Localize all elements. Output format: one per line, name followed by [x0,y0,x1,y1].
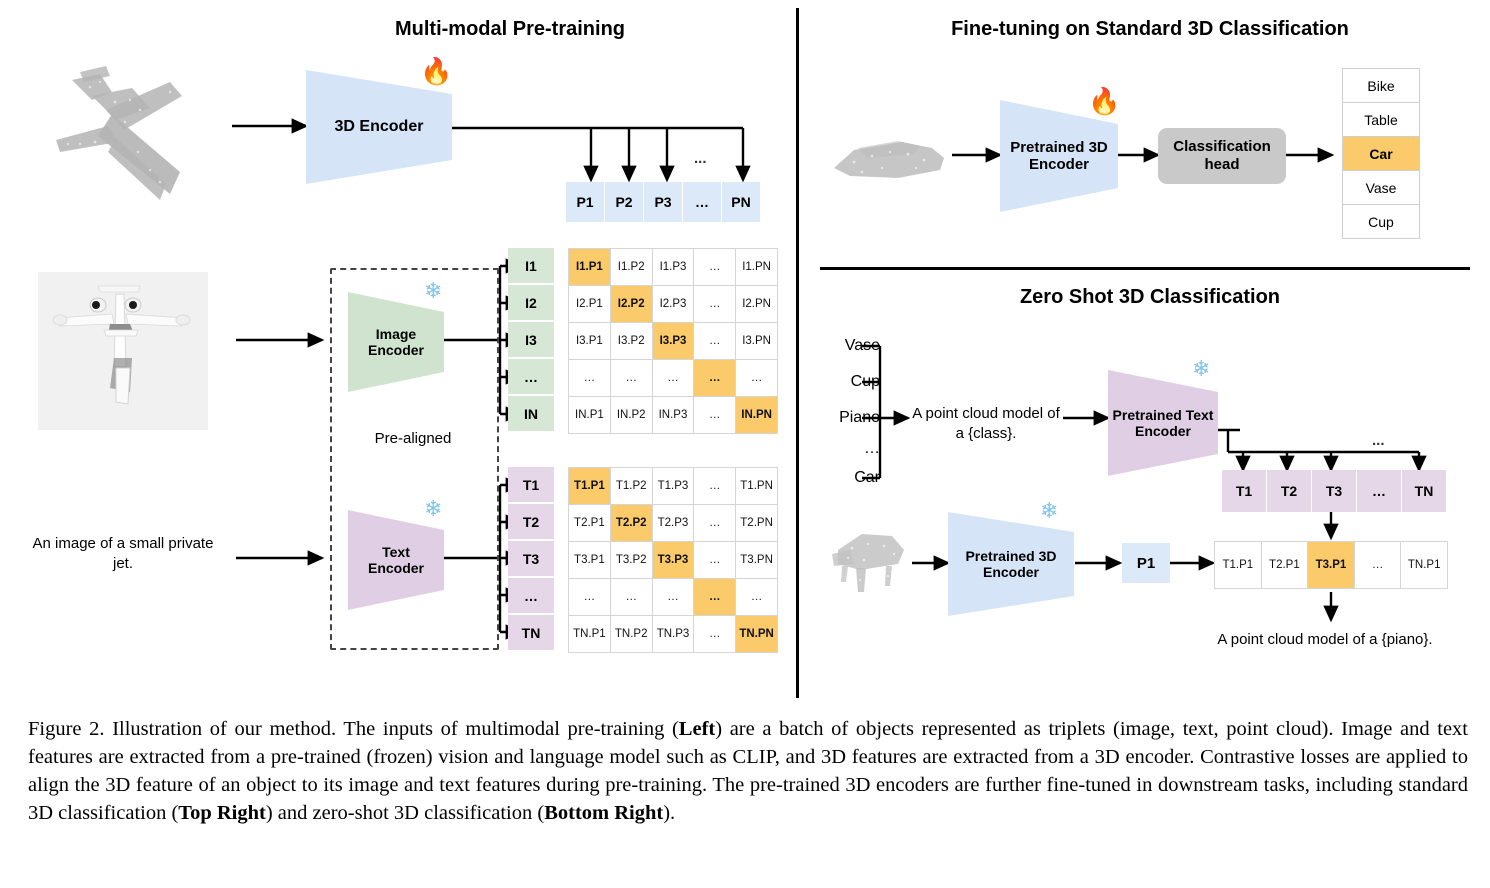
matrix-cell-highlighted: T3.P3 [653,542,694,578]
matrix-cell: IN.P1 [569,397,610,433]
matrix-cell: I3.P1 [569,323,610,359]
token-cell: T2 [508,504,554,541]
p-row-ellipsis: ... [694,150,707,167]
pretrained-text-encoder-label: Pretrained Text Encoder [1113,407,1214,439]
class-list-item[interactable]: Car [1343,137,1419,171]
matrix-cell: … [694,286,735,322]
pretrained-3d-encoder-label: Pretrained 3D Encoder [1010,139,1108,174]
class-list-item[interactable]: Table [1343,103,1419,137]
matrix-cell-highlighted: … [694,360,735,396]
matrix-cell-highlighted: I3.P3 [653,323,694,359]
matrix-cell: … [694,542,735,578]
token-chip: T3 [1312,470,1357,512]
matrix-cell: … [694,616,735,652]
caption-bold2: Top Right [178,802,266,824]
matrix-cell-highlighted: IN.PN [736,397,777,433]
image-encoder-label: Image Encoder [368,326,424,358]
figure-canvas: Multi-modal Pre-training Fine-tuning on … [0,0,1490,705]
matrix-cell-highlighted: T2.P2 [611,505,652,541]
token-cell: I3 [508,322,554,359]
matrix-cell-highlighted: T1.P1 [569,468,610,504]
bottomright-panel-title: Zero Shot 3D Classification [900,286,1400,309]
matrix-cell-highlighted: … [694,579,735,615]
image-similarity-matrix: I1.P1I1.P2I1.P3…I1.PNI2.P1I2.P2I2.P3…I2.… [568,248,778,434]
candidate-label: Car [822,469,880,487]
matrix-cell: … [694,397,735,433]
matrix-cell-highlighted: TN.PN [736,616,777,652]
pretrained-3d-encoder-block[interactable]: Pretrained 3D Encoder [1000,98,1118,214]
zeroshot-3d-encoder-block[interactable]: Pretrained 3D Encoder [948,510,1074,618]
score-cell: T2.P1 [1262,542,1308,588]
p-token-row: P1P2P3…PN [566,182,760,222]
text-encoder-label: Text Encoder [368,544,424,576]
zeroshot-result: A point cloud model of a {piano}. [1160,630,1490,650]
figure-caption: Figure 2. Illustration of our method. Th… [28,716,1468,828]
image-encoder-block[interactable]: Image Encoder [348,290,444,394]
token-cell: T1 [508,467,554,504]
matrix-cell: TN.P3 [653,616,694,652]
matrix-cell: I1.PN [736,249,777,285]
airplane-point-cloud [20,52,235,217]
class-list-item[interactable]: Bike [1343,69,1419,103]
token-chip: TN [1402,470,1446,512]
matrix-cell: I1.P2 [611,249,652,285]
token-cell: I2 [508,285,554,322]
caption-part1: Figure 2. Illustration of our method. Th… [28,718,679,740]
class-list-item[interactable]: Cup [1343,205,1419,238]
zeroshot-p1-chip: P1 [1122,543,1170,583]
matrix-cell: … [611,360,652,396]
pretrained-text-encoder-block[interactable]: Pretrained Text Encoder [1108,368,1218,478]
prompt-template: A point cloud model of a {class}. [906,404,1066,443]
threed-encoder-label: 3D Encoder [335,118,424,136]
token-chip: P2 [605,182,644,222]
matrix-cell: TN.P2 [611,616,652,652]
matrix-cell-highlighted: I2.P2 [611,286,652,322]
topright-panel-title: Fine-tuning on Standard 3D Classificatio… [880,18,1420,41]
token-chip: T1 [1222,470,1267,512]
caption-bold1: Left [679,718,715,740]
candidate-label: Cup [822,373,880,391]
class-list[interactable]: BikeTableCarVaseCup [1342,68,1420,239]
score-cell: TN.P1 [1401,542,1447,588]
zeroshot-3d-encoder-label: Pretrained 3D Encoder [965,548,1056,580]
text-encoder-line2: Encoder [368,560,424,576]
airplane-rendered-image [38,272,208,430]
i-token-stack: I1I2I3…IN [508,248,554,431]
caption-part3: ) and zero-shot 3D classification ( [266,802,544,824]
token-cell: … [508,359,554,396]
matrix-cell: … [694,468,735,504]
token-cell: I1 [508,248,554,285]
matrix-cell: T2.P1 [569,505,610,541]
matrix-cell: T1.PN [736,468,777,504]
text-input-caption: An image of a small private jet. [32,534,214,573]
score-cell: … [1355,542,1401,588]
matrix-cell: … [653,579,694,615]
text-similarity-matrix: T1.P1T1.P2T1.P3…T1.PNT2.P1T2.P2T2.P3…T2.… [568,467,778,653]
piano-point-cloud [828,520,914,602]
score-cell-highlighted: T3.P1 [1308,542,1354,588]
zeroshot-t-row-ellipsis: ... [1372,432,1385,449]
text-encoder-line2: Encoder [1135,423,1191,439]
class-list-item[interactable]: Vase [1343,171,1419,205]
zeroshot-score-row: T1.P1T2.P1T3.P1…TN.P1 [1214,541,1448,589]
matrix-cell: IN.P3 [653,397,694,433]
matrix-cell: T1.P3 [653,468,694,504]
matrix-cell: I2.P3 [653,286,694,322]
text-encoder-line1: Text [382,544,410,560]
matrix-cell: … [736,360,777,396]
token-cell: IN [508,396,554,431]
encoder-line1: Pretrained 3D [965,548,1056,564]
t-token-stack: T1T2T3…TN [508,467,554,650]
prompt-line1: A point cloud model of [912,405,1060,422]
score-cell: T1.P1 [1215,542,1261,588]
matrix-cell-highlighted: I1.P1 [569,249,610,285]
encoder-line2: Encoder [1029,156,1089,173]
threed-encoder-block[interactable]: 3D Encoder [306,68,452,186]
matrix-cell: T3.PN [736,542,777,578]
token-chip: P3 [644,182,683,222]
image-encoder-line1: Image [376,326,416,342]
matrix-cell: T3.P1 [569,542,610,578]
token-cell: … [508,578,554,615]
matrix-cell: I3.P2 [611,323,652,359]
car-point-cloud [828,128,952,188]
caption-bold3: Bottom Right [544,802,663,824]
token-chip: T2 [1267,470,1312,512]
matrix-cell: … [569,360,610,396]
matrix-cell: … [736,579,777,615]
token-chip: … [683,182,722,222]
matrix-cell: T3.P2 [611,542,652,578]
head-line2: head [1204,156,1239,173]
token-cell: T3 [508,541,554,578]
left-panel-title: Multi-modal Pre-training [230,18,790,41]
token-cell: TN [508,615,554,650]
horizontal-divider [820,267,1470,270]
text-encoder-line1: Pretrained Text [1113,407,1214,423]
matrix-cell: … [694,323,735,359]
matrix-cell: … [611,579,652,615]
matrix-cell: … [569,579,610,615]
matrix-cell: I2.P1 [569,286,610,322]
vertical-divider [796,8,799,698]
image-encoder-line2: Encoder [368,342,424,358]
text-encoder-block[interactable]: Text Encoder [348,508,444,612]
pre-aligned-label: Pre-aligned [340,430,486,447]
zeroshot-t-token-row: T1T2T3…TN [1222,470,1446,512]
matrix-cell: … [694,505,735,541]
token-chip: PN [722,182,760,222]
encoder-line1: Pretrained 3D [1010,139,1108,156]
token-chip: P1 [566,182,605,222]
encoder-line2: Encoder [983,564,1039,580]
matrix-cell: I3.PN [736,323,777,359]
matrix-cell: I2.PN [736,286,777,322]
matrix-cell: … [653,360,694,396]
matrix-cell: T2.PN [736,505,777,541]
candidate-label: Vase [822,337,880,355]
token-chip: … [1357,470,1402,512]
caption-part4: ). [663,802,675,824]
classification-head-block[interactable]: Classification head [1158,128,1286,184]
matrix-cell: T2.P3 [653,505,694,541]
head-line1: Classification [1173,138,1271,155]
matrix-cell: TN.P1 [569,616,610,652]
matrix-cell: IN.P2 [611,397,652,433]
matrix-cell: I1.P3 [653,249,694,285]
candidate-label: Piano [822,409,880,427]
matrix-cell: … [694,249,735,285]
classification-head-label: Classification head [1173,138,1271,174]
candidate-label: … [822,440,880,458]
prompt-line2: a {class}. [956,425,1017,442]
matrix-cell: T1.P2 [611,468,652,504]
